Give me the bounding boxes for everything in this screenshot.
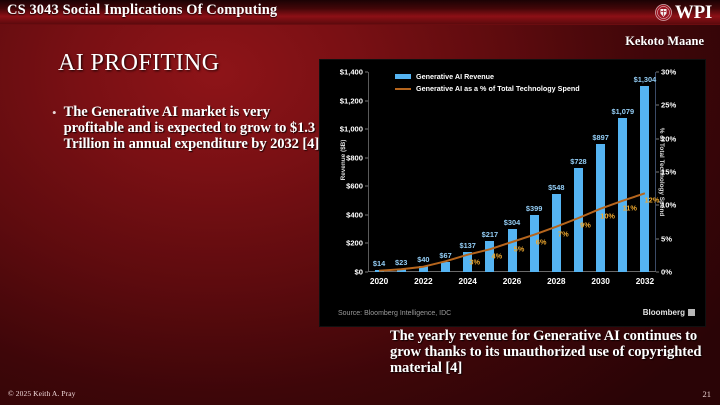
y2-tick-label: 15% [661,168,676,177]
bloomberg-brand-text: Bloomberg [643,308,685,317]
y-tick-label: $1,200 [340,96,363,105]
y2-tick-mark [656,105,659,106]
chart-caption: The yearly revenue for Generative AI con… [390,328,710,377]
y-tick-label: $200 [346,239,363,248]
wpi-seal-icon [655,4,672,21]
percent-value-label: 7% [558,229,569,238]
y2-tick-mark [656,238,659,239]
y-tick-label: $0 [355,268,363,277]
copyright-notice: © 2025 Keith A. Pray [8,389,76,398]
bloomberg-brand: Bloomberg [643,308,695,317]
y2-tick-mark [656,272,659,273]
y2-tick-mark [656,72,659,73]
percent-line-series [368,72,656,272]
bullet-item-text: The Generative AI market is very profita… [64,104,324,153]
percent-value-label: 6% [536,237,547,246]
chart-plot-area: $0$200$400$600$800$1,000$1,200$1,400 0%5… [368,72,656,272]
x-tick-label: 2032 [636,276,654,286]
percent-value-label: 11% [623,203,637,212]
wpi-logo: WPI [655,0,712,24]
percent-value-label: 3% [469,257,480,266]
y-tick-label: $400 [346,210,363,219]
bloomberg-square-icon [688,309,695,316]
y2-tick-label: 0% [661,268,672,277]
x-tick-label: 2028 [547,276,565,286]
author-name: Kekoto Maane [625,34,704,49]
x-tick-label: 2026 [503,276,521,286]
y-tick-label: $600 [346,182,363,191]
x-tick-label: 2030 [591,276,609,286]
y2-tick-label: 5% [661,234,672,243]
y2-tick-mark [656,172,659,173]
x-tick-label: 2024 [458,276,476,286]
y2-tick-label: 10% [661,201,676,210]
wpi-logo-text: WPI [675,3,712,22]
course-title: CS 3043 Social Implications Of Computing [7,2,277,19]
y2-tick-mark [656,205,659,206]
bullet-list: • The Generative AI market is very profi… [52,104,324,153]
y2-tick-mark [656,138,659,139]
y-tick-label: $1,400 [340,68,363,77]
percent-value-label: 9% [580,221,591,230]
y-tick-label: $1,000 [340,125,363,134]
slide-title: AI PROFITING [58,50,219,77]
page-number: 21 [703,389,712,399]
percent-value-label: 5% [514,245,525,254]
y-tick-label: $800 [346,153,363,162]
y2-tick-label: 30% [661,68,676,77]
y2-tick-label: 20% [661,134,676,143]
slide-header-bar: CS 3043 Social Implications Of Computing… [0,0,720,25]
chart-source: Source: Bloomberg Intelligence, IDC [338,310,451,317]
percent-value-label: 12% [645,196,660,205]
x-tick-label: 2020 [370,276,388,286]
percent-value-label: 10% [600,211,615,220]
x-tick-label: 2022 [414,276,432,286]
bloomberg-chart: Revenue ($B) % of Total Technology Spend… [320,60,705,326]
y2-tick-label: 25% [661,101,676,110]
slide-canvas: CS 3043 Social Implications Of Computing… [0,0,720,405]
bullet-dot-icon: • [52,104,57,153]
percent-value-label: 4% [492,252,503,261]
